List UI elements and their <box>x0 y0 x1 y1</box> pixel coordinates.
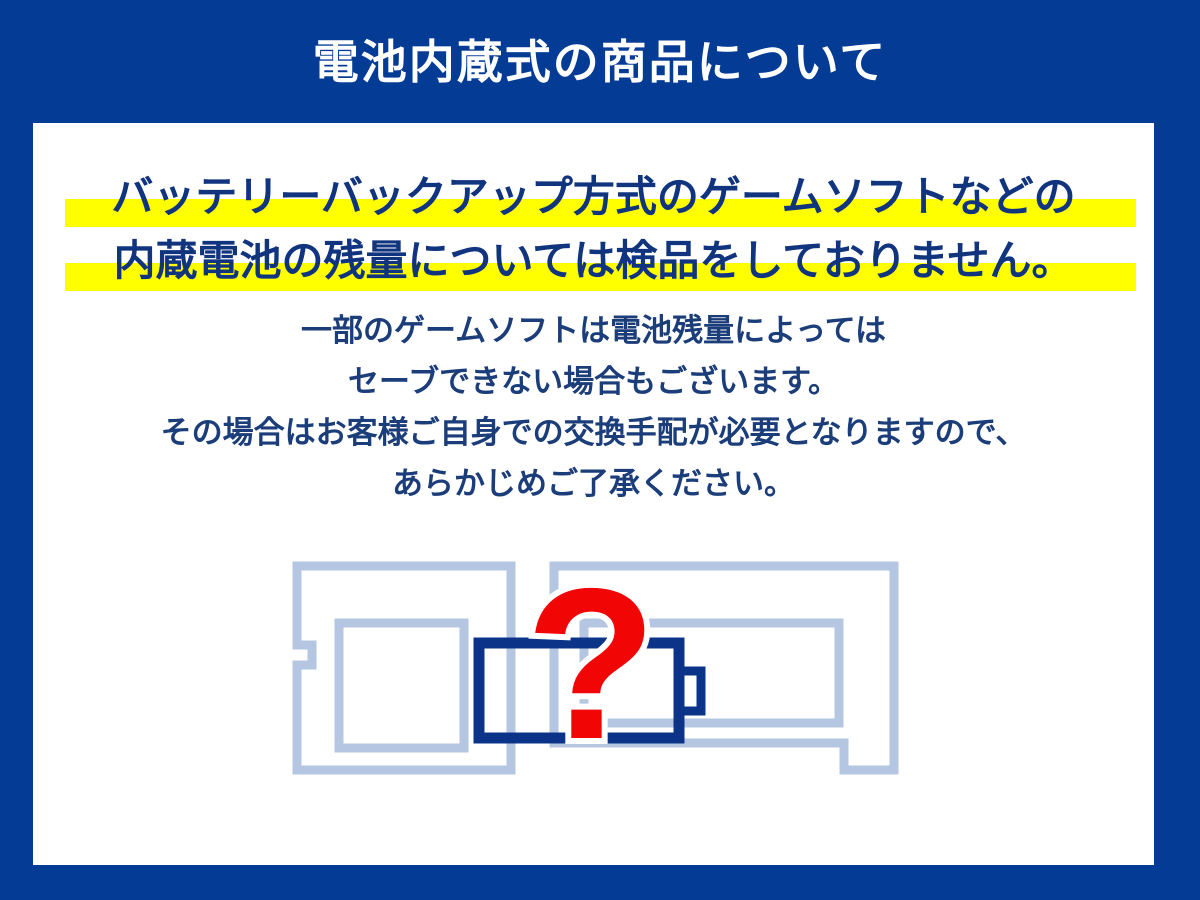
body-line: セーブできない場合もございます。 <box>33 356 1154 407</box>
highlight-line: バッテリーバックアップ方式のゲームソフトなどの <box>33 165 1154 229</box>
body-line: 一部のゲームソフトは電池残量によっては <box>33 305 1154 356</box>
highlight-line: 内蔵電池の残量については検品をしておりません。 <box>33 229 1154 293</box>
highlight-line-text: バッテリーバックアップ方式のゲームソフトなどの <box>111 173 1075 220</box>
body-paragraph: 一部のゲームソフトは電池残量によっては セーブできない場合もございます。 その場… <box>33 305 1154 509</box>
body-line: その場合はお客様ご自身での交換手配が必要となりますので、 <box>33 407 1154 458</box>
highlight-line-text: 内蔵電池の残量については検品をしておりません。 <box>113 237 1073 284</box>
highlight-heading: バッテリーバックアップ方式のゲームソフトなどの 内蔵電池の残量については検品をし… <box>33 165 1154 293</box>
poster-root: 電池内蔵式の商品について バッテリーバックアップ方式のゲームソフトなどの 内蔵電… <box>0 0 1200 900</box>
question-mark-icon: ? <box>525 543 656 784</box>
body-line: あらかじめご了承ください。 <box>33 458 1154 509</box>
content-card: バッテリーバックアップ方式のゲームソフトなどの 内蔵電池の残量については検品をし… <box>33 123 1154 865</box>
illustration-area: ? <box>33 533 1154 803</box>
header-band: 電池内蔵式の商品について <box>0 0 1200 123</box>
battery-cartridge-illustration: ? <box>264 533 924 793</box>
question-mark-glyph: ? <box>525 543 656 784</box>
page-title: 電池内蔵式の商品について <box>313 39 888 85</box>
